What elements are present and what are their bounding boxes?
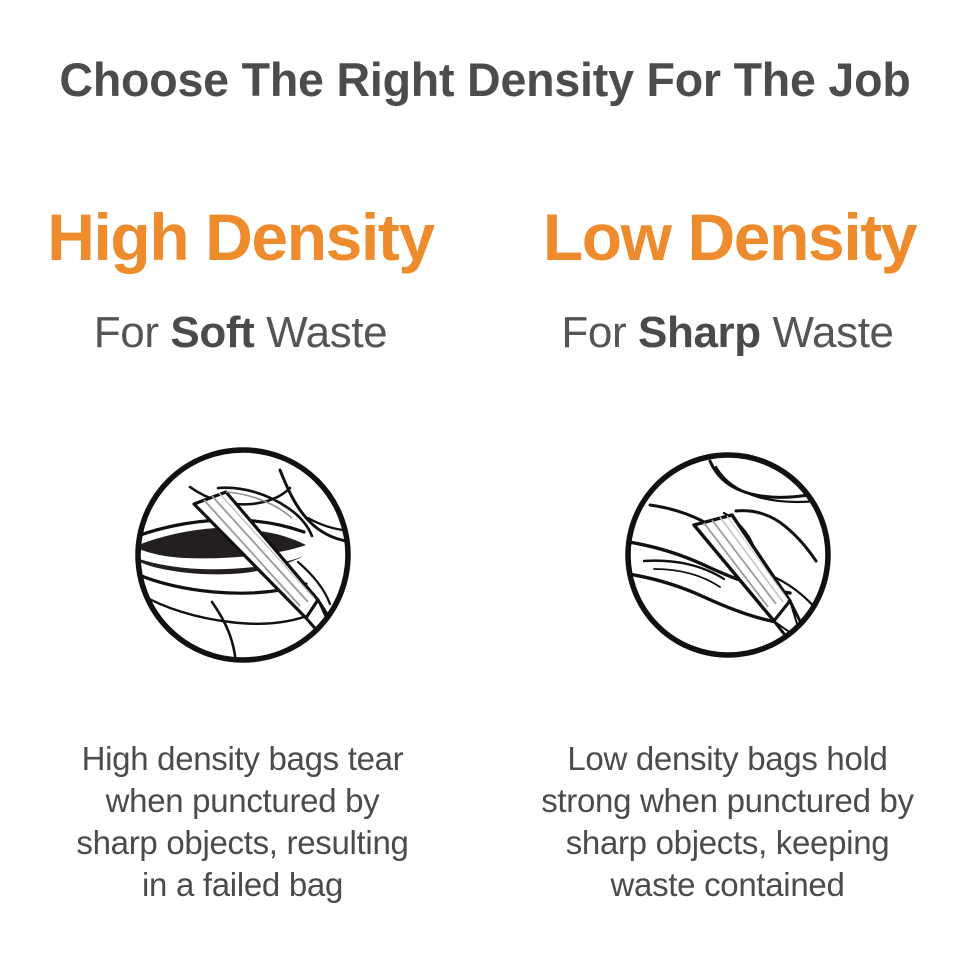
column-subheading-high-density: For Soft Waste: [0, 306, 483, 360]
subheading-prefix: For: [561, 308, 638, 357]
subheading-emphasis: Soft: [170, 308, 254, 357]
comparison-columns: High Density For Soft Waste: [0, 0, 970, 971]
column-caption-high-density: High density bags tear when punctured by…: [0, 738, 485, 906]
subheading-emphasis: Sharp: [638, 308, 761, 357]
high-density-bag-torn-by-sharp-object-illustration: [130, 442, 356, 668]
caption-line: when punctured by: [0, 780, 485, 822]
column-caption-low-density: Low density bags hold strong when punctu…: [485, 738, 970, 906]
column-heading-low-density: Low Density: [487, 196, 970, 278]
caption-line: waste contained: [485, 864, 970, 906]
subheading-suffix: Waste: [254, 308, 387, 357]
subheading-prefix: For: [94, 308, 171, 357]
infographic-page: Choose The Right Density For The Job Hig…: [0, 0, 970, 971]
low-density-bag-holding-sharp-object-illustration: [620, 447, 836, 663]
caption-line: High density bags tear: [0, 738, 485, 780]
illustration-container-high-density: [0, 440, 485, 670]
column-subheading-low-density: For Sharp Waste: [485, 306, 970, 360]
caption-line: sharp objects, keeping: [485, 822, 970, 864]
column-heading-high-density: High Density: [0, 196, 483, 278]
illustration-container-low-density: [485, 440, 970, 670]
caption-line: Low density bags hold: [485, 738, 970, 780]
column-high-density: High Density For Soft Waste: [0, 0, 485, 971]
caption-line: strong when punctured by: [485, 780, 970, 822]
caption-line: sharp objects, resulting: [0, 822, 485, 864]
subheading-suffix: Waste: [761, 308, 894, 357]
caption-line: in a failed bag: [0, 864, 485, 906]
column-low-density: Low Density For Sharp Waste: [485, 0, 970, 971]
